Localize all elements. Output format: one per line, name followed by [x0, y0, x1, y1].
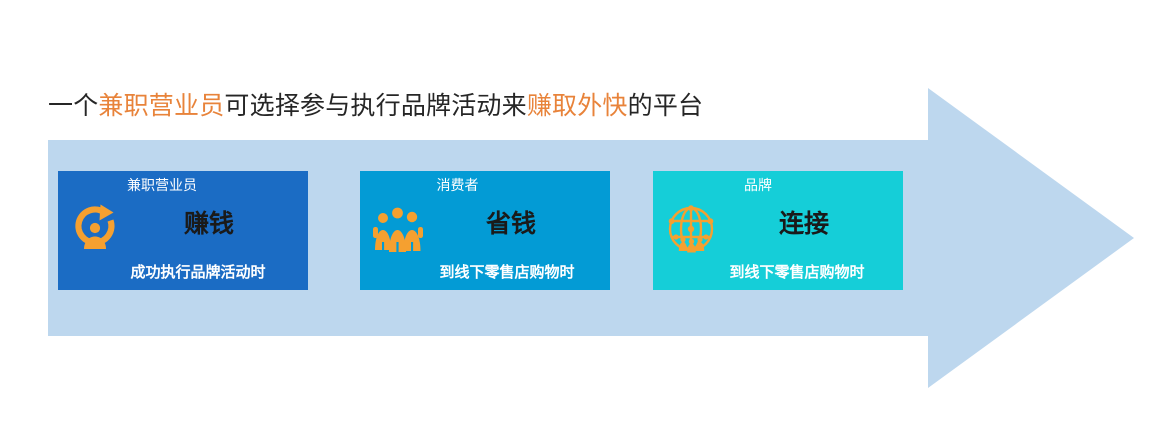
title-highlight-2: 赚取外快 [527, 91, 628, 120]
card-label: 兼职营业员 [58, 176, 308, 196]
card-caption: 成功执行品牌活动时 [58, 261, 308, 283]
slide-canvas: 一个兼职营业员可选择参与执行品牌活动来赚取外快的平台 兼职营业员 赚钱 成功执行… [0, 0, 1150, 430]
card-brand[interactable]: 品牌 [653, 171, 903, 290]
card-consumer[interactable]: 消费者 [360, 171, 610, 290]
title-segment-3: 的平台 [628, 91, 704, 120]
title-segment-2: 可选择参与执行品牌活动来 [224, 91, 526, 120]
card-part-time-promoter[interactable]: 兼职营业员 赚钱 成功执行品牌活动时 [58, 171, 308, 290]
title-highlight-1: 兼职营业员 [98, 91, 224, 120]
page-title: 一个兼职营业员可选择参与执行品牌活动来赚取外快的平台 [48, 89, 703, 123]
card-main-text: 省钱 [420, 207, 610, 241]
title-segment-1: 一个 [48, 91, 98, 120]
card-main-text: 连接 [713, 207, 903, 241]
card-label: 消费者 [360, 176, 610, 196]
card-caption: 到线下零售店购物时 [653, 261, 903, 283]
card-main-text: 赚钱 [118, 207, 308, 241]
card-label: 品牌 [653, 176, 903, 196]
card-row: 兼职营业员 赚钱 成功执行品牌活动时 消费者 [58, 171, 903, 290]
card-caption: 到线下零售店购物时 [360, 261, 610, 283]
